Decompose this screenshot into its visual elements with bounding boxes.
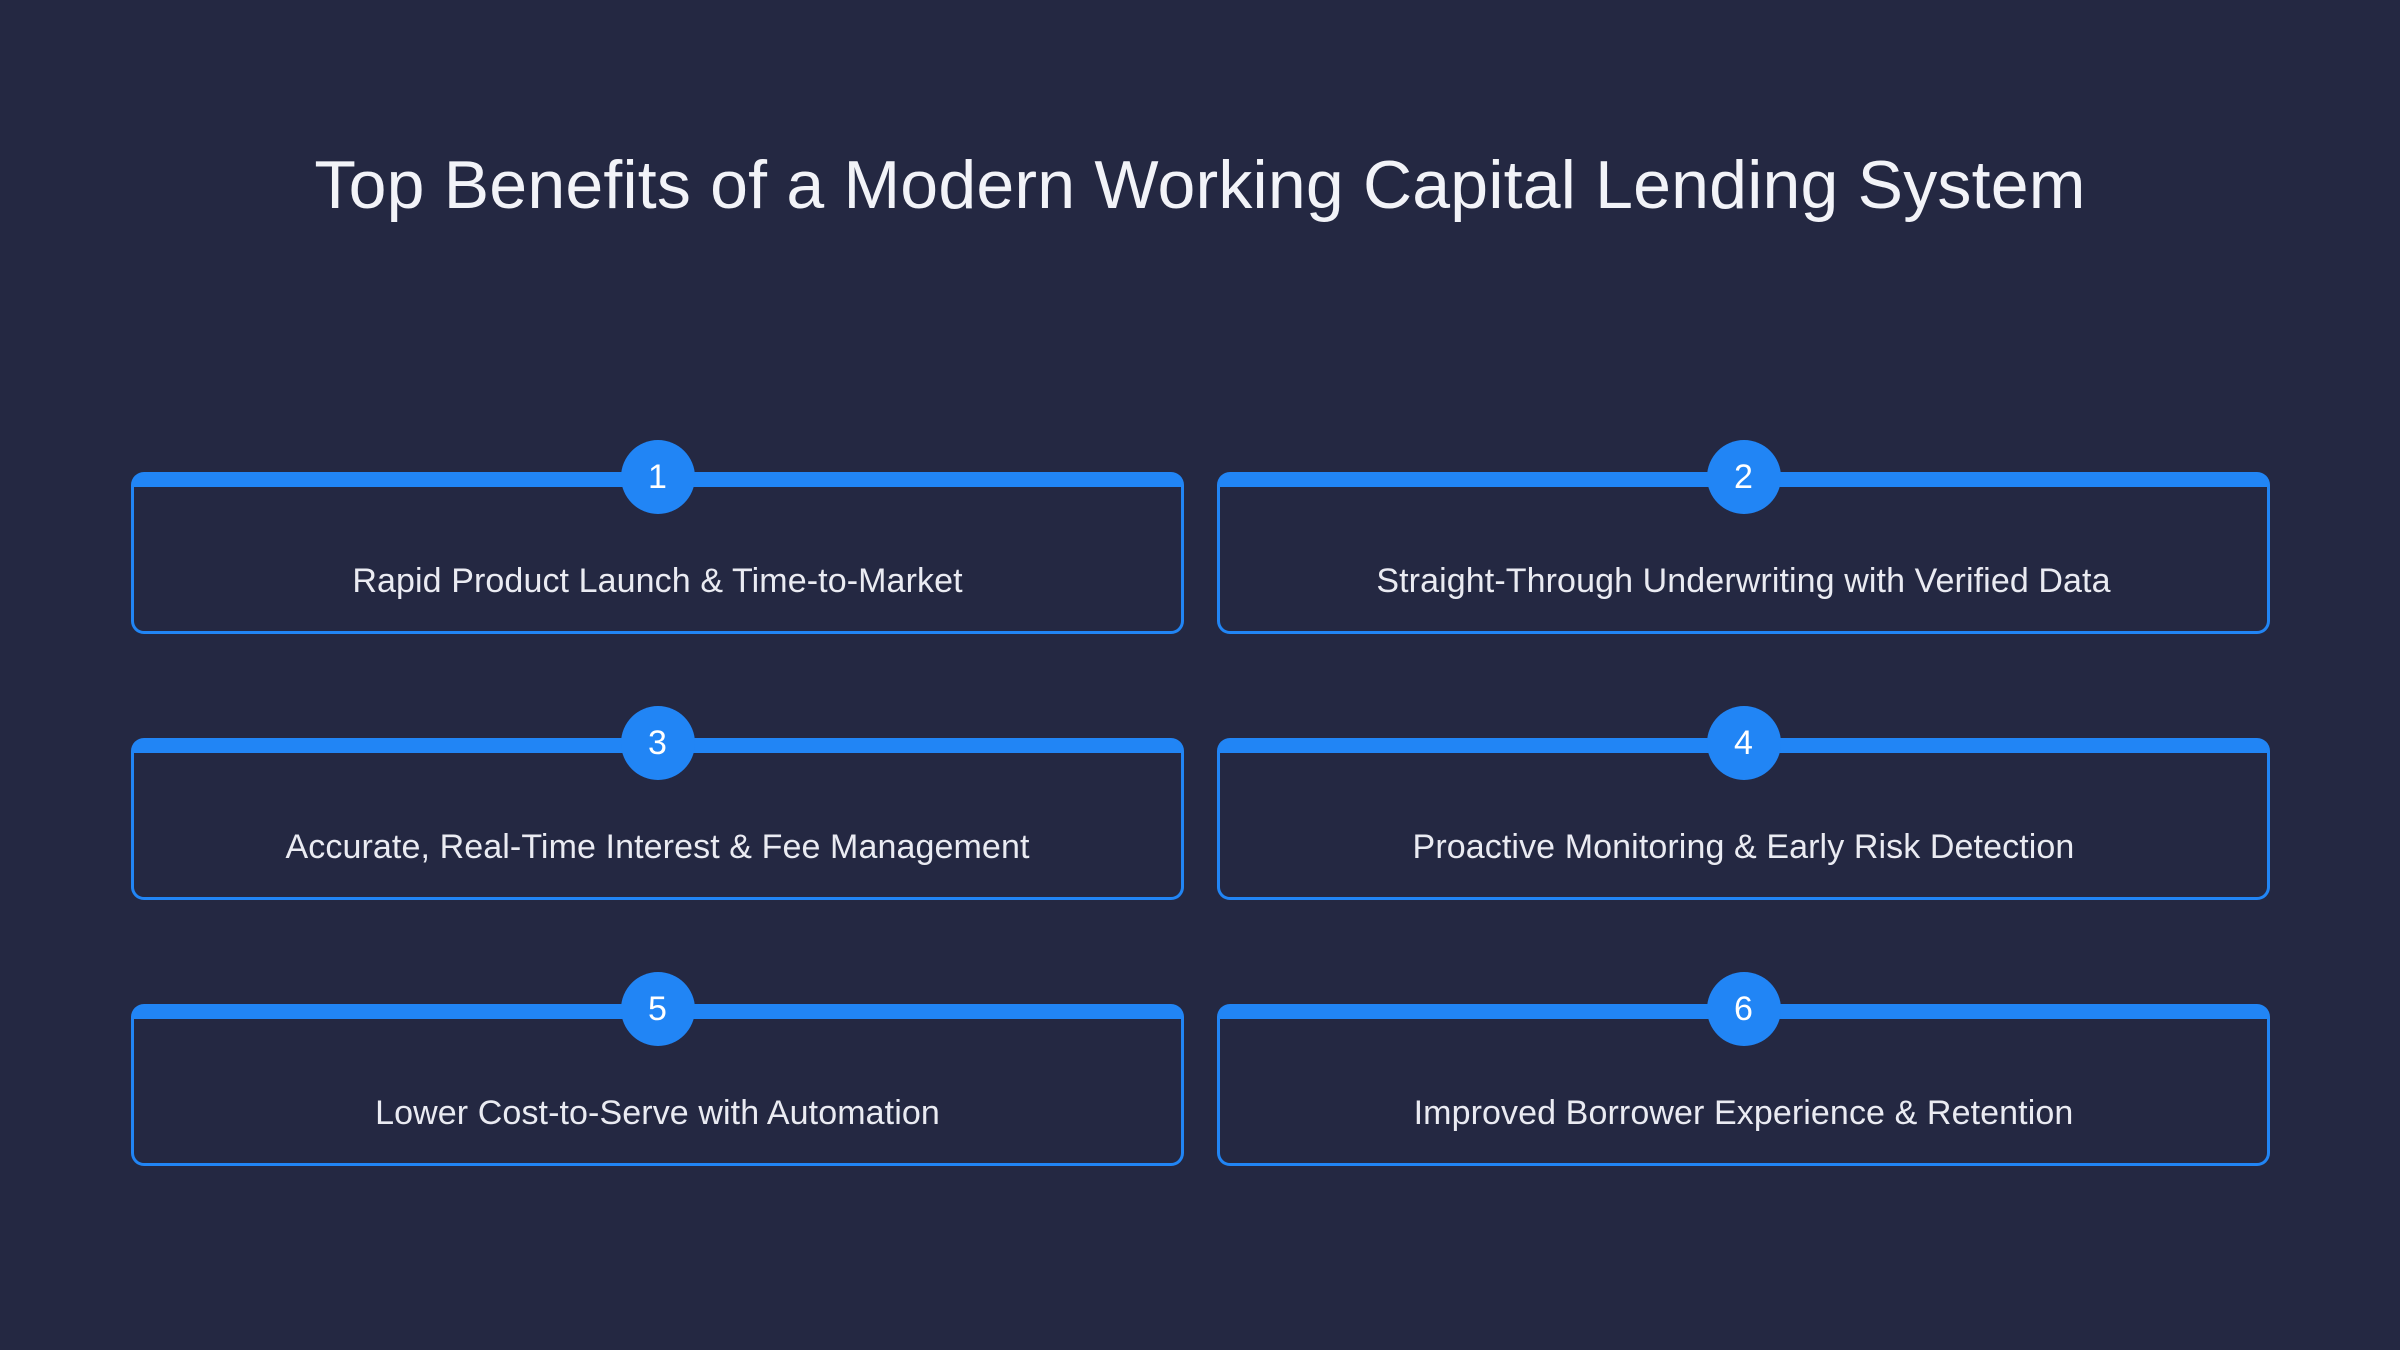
benefits-grid: Rapid Product Launch & Time-to-Market 1 … [131, 448, 2270, 1166]
benefit-number-4: 4 [1734, 726, 1753, 760]
benefit-item-5[interactable]: Lower Cost-to-Serve with Automation 5 [131, 980, 1184, 1166]
page-title: Top Benefits of a Modern Working Capital… [190, 150, 2210, 220]
page-title-text: Top Benefits of a Modern Working Capital… [190, 150, 2210, 220]
benefit-number-5: 5 [648, 992, 667, 1026]
benefit-label-6: Improved Borrower Experience & Retention [1248, 1093, 2239, 1134]
benefit-number-1: 1 [648, 460, 667, 494]
benefit-number-badge-5: 5 [621, 972, 695, 1046]
benefit-number-badge-1: 1 [621, 440, 695, 514]
benefit-number-badge-4: 4 [1707, 706, 1781, 780]
benefit-item-2[interactable]: Straight-Through Underwriting with Verif… [1217, 448, 2270, 634]
benefit-number-6: 6 [1734, 992, 1753, 1026]
benefit-item-6[interactable]: Improved Borrower Experience & Retention… [1217, 980, 2270, 1166]
infographic-slide: Top Benefits of a Modern Working Capital… [0, 0, 2400, 1350]
benefit-label-4: Proactive Monitoring & Early Risk Detect… [1248, 827, 2239, 868]
benefit-number-badge-3: 3 [621, 706, 695, 780]
benefit-item-4[interactable]: Proactive Monitoring & Early Risk Detect… [1217, 714, 2270, 900]
benefit-label-1: Rapid Product Launch & Time-to-Market [162, 561, 1153, 602]
benefit-item-1[interactable]: Rapid Product Launch & Time-to-Market 1 [131, 448, 1184, 634]
benefit-number-badge-6: 6 [1707, 972, 1781, 1046]
benefit-number-badge-2: 2 [1707, 440, 1781, 514]
benefit-label-5: Lower Cost-to-Serve with Automation [162, 1093, 1153, 1134]
benefit-label-2: Straight-Through Underwriting with Verif… [1248, 561, 2239, 602]
benefit-number-3: 3 [648, 726, 667, 760]
benefit-item-3[interactable]: Accurate, Real-Time Interest & Fee Manag… [131, 714, 1184, 900]
benefit-number-2: 2 [1734, 460, 1753, 494]
benefit-label-3: Accurate, Real-Time Interest & Fee Manag… [162, 827, 1153, 868]
